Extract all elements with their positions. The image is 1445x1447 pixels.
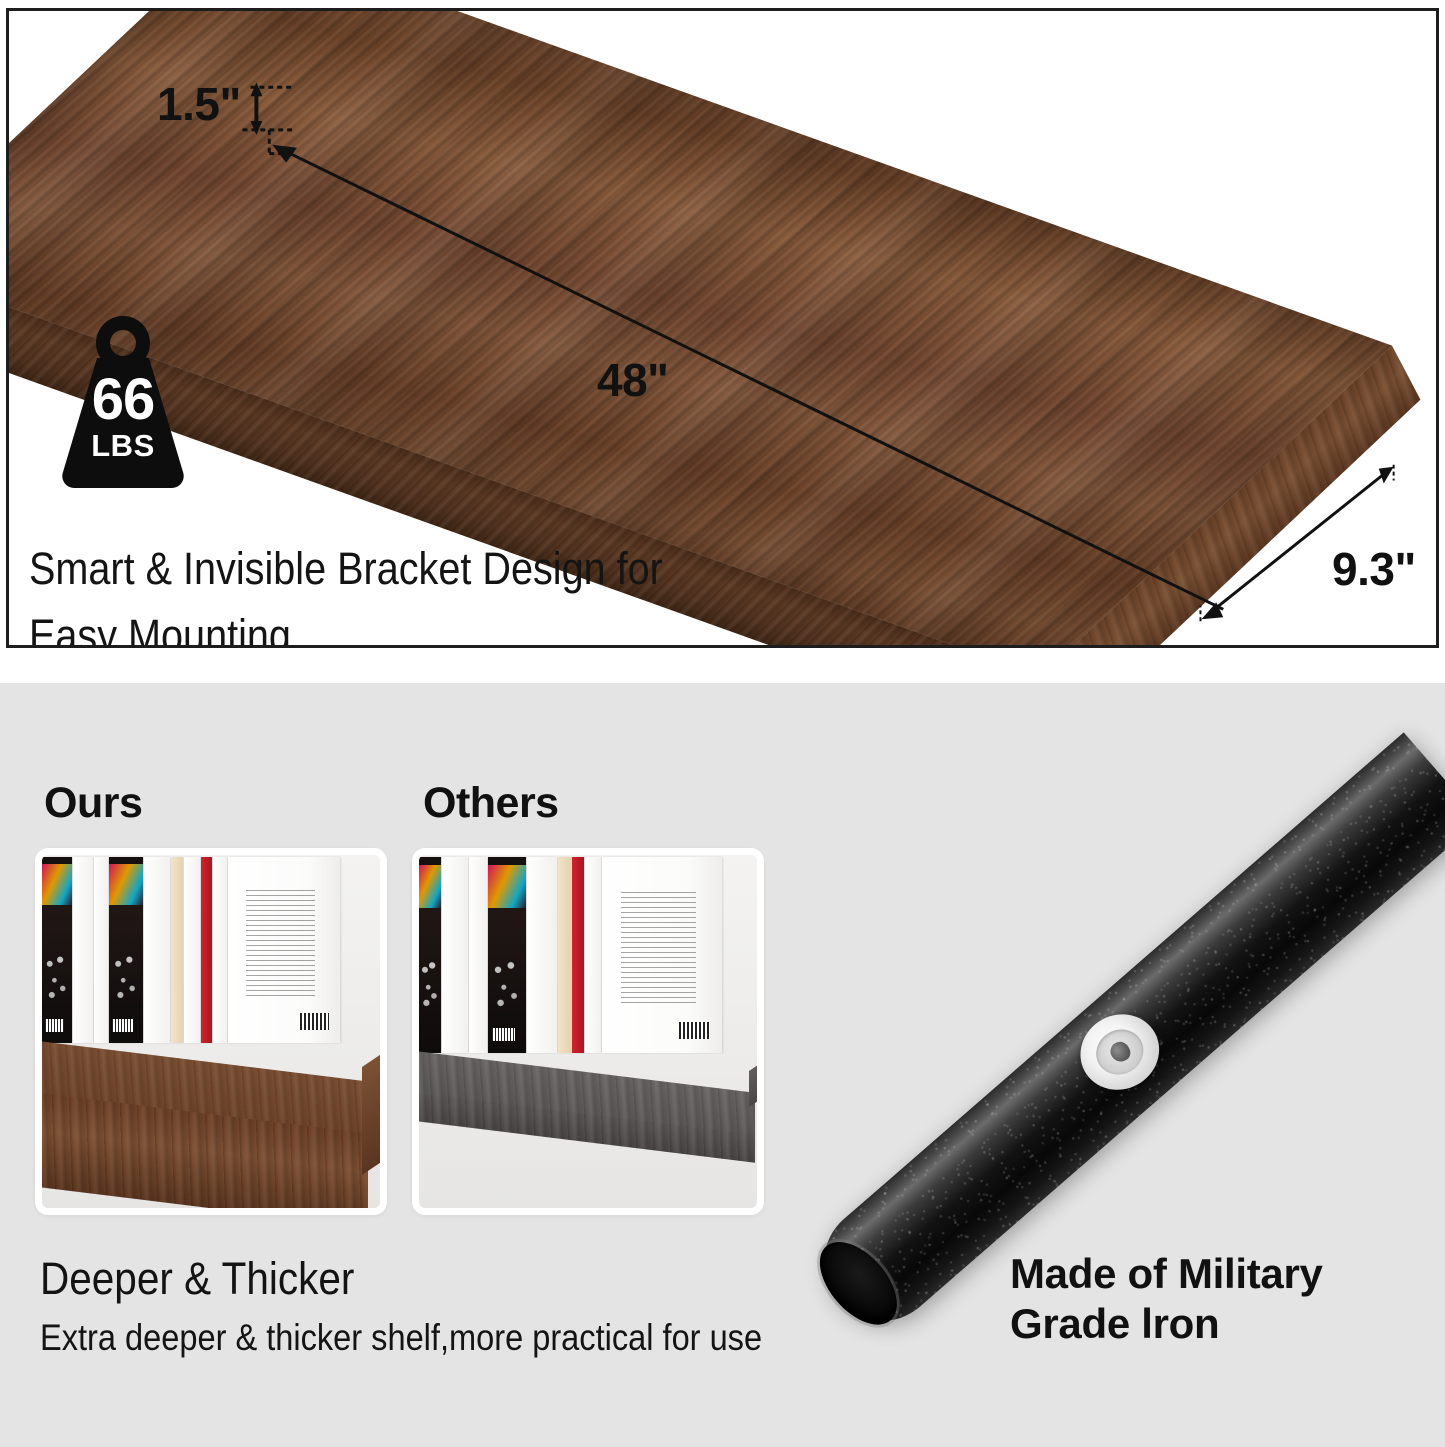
- material-caption: Made of Military Grade lron: [1010, 1249, 1323, 1349]
- feature-caption-title: Deeper & Thicker: [40, 1253, 354, 1305]
- feature-caption-subtitle: Extra deeper & thicker shelf,more practi…: [40, 1317, 762, 1359]
- length-dimension-label: 48": [597, 353, 668, 407]
- weight-unit: LBS: [55, 430, 191, 461]
- dimensions-panel: 1.5" 48" 9.3" 66 LBS Smart & Invisible B…: [6, 8, 1439, 648]
- thickness-dimension-label: 1.5": [157, 77, 241, 131]
- weight-value: 66: [55, 371, 191, 429]
- weight-capacity-badge: 66 LBS: [55, 314, 191, 492]
- infographic-page: 1.5" 48" 9.3" 66 LBS Smart & Invisible B…: [0, 0, 1445, 1447]
- headline-text: Smart & Invisible Bracket Design for Eas…: [29, 535, 733, 648]
- depth-dimension-label: 9.3": [1332, 542, 1416, 596]
